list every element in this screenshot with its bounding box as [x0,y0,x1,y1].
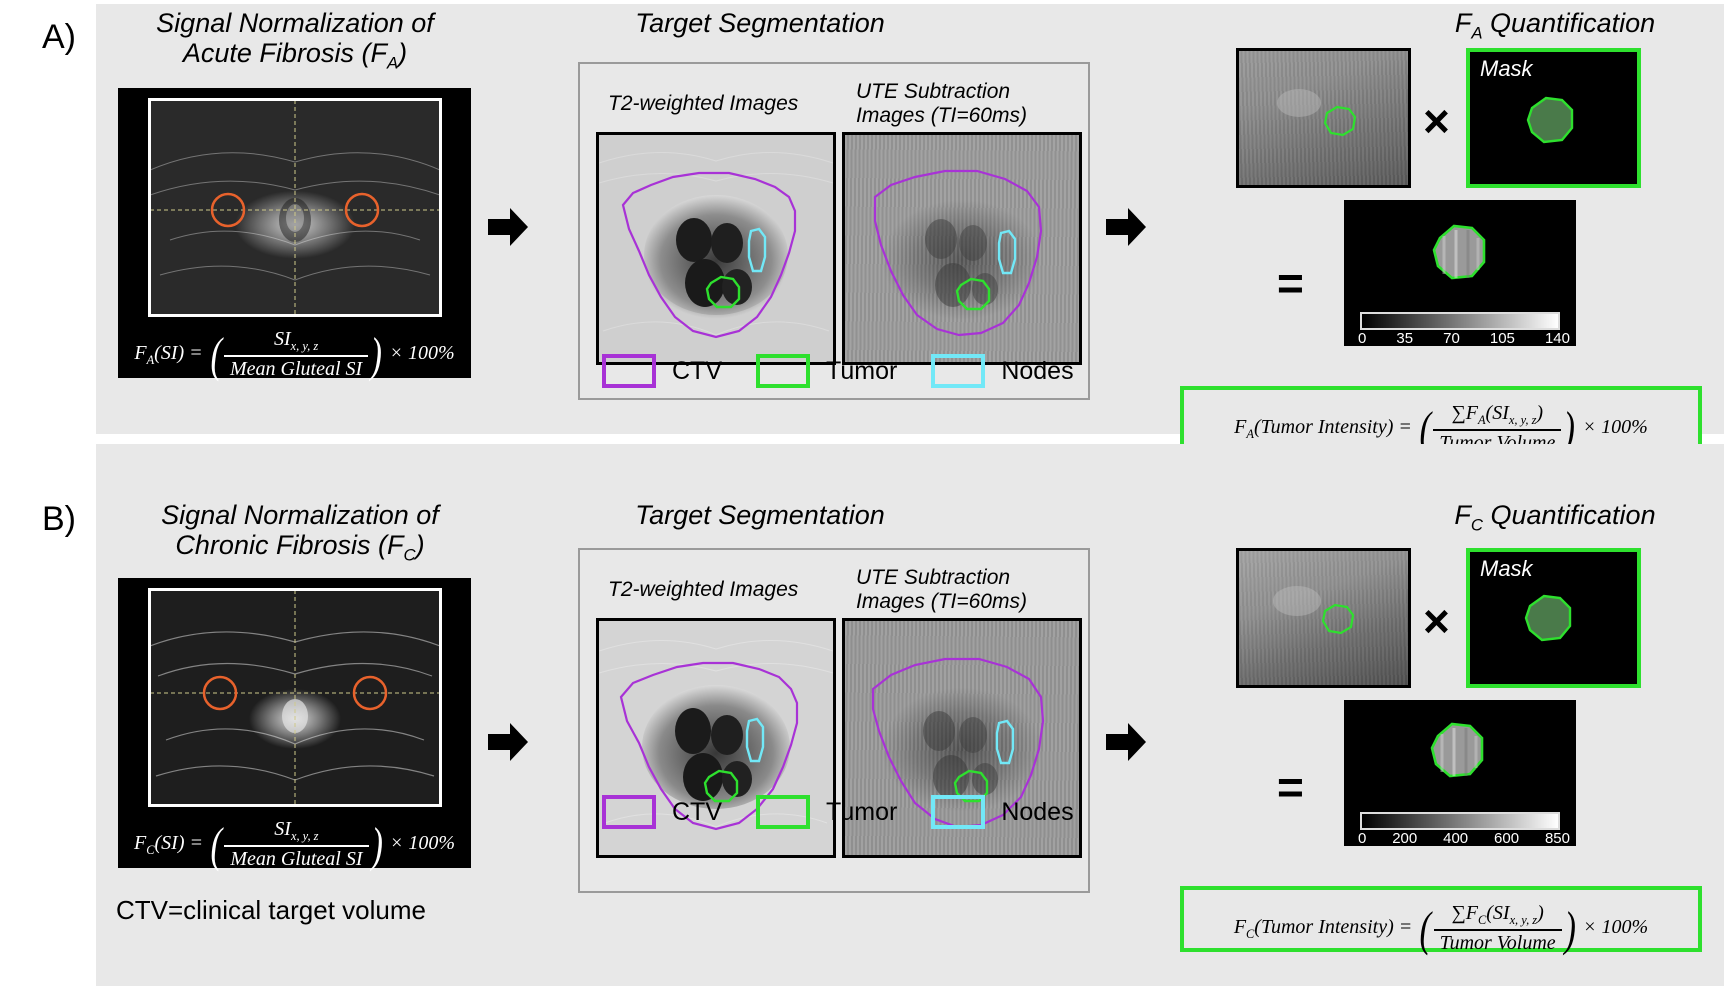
result-lhs-pre-b: F [1234,916,1246,938]
legend-label-tumor: Tumor [826,357,897,386]
num-mid-b: (SI [1486,902,1509,924]
legend-swatch-ctv-b [602,795,656,829]
panel-b-footnote: CTV=clinical target volume [116,895,426,926]
quant-title-sub-b: C [1471,515,1483,534]
title-line-2-pre: Acute Fibrosis (F [183,38,387,68]
legend-swatch-nodes [931,354,985,388]
num-sub-b: C [1478,913,1486,927]
sum-symbol-b: ∑ [1451,902,1465,924]
sum-symbol: ∑ [1451,402,1465,424]
result-paren-open-b: ( [1420,900,1431,957]
ute-label-line2-b: Images (TI=60ms) [856,590,1027,613]
quant-title-sub: A [1471,23,1482,42]
title-line-2-post: ) [398,38,407,68]
panel-a-mask-label: Mask [1480,56,1533,82]
panel-a-t2-label: T2-weighted Images [608,92,818,116]
formula-lhs-sub-b: C [146,843,154,857]
result-paren-close-b: ) [1564,900,1575,957]
panel-a-colorbar-ticks: 0 35 70 105 140 [1358,330,1570,347]
formula-tail: × 100% [389,342,454,364]
title-line-2-sub: A [387,54,398,73]
title-line-1-b: Signal Normalization of [161,500,439,530]
numerator-pre: SI [274,328,291,350]
panel-a-label: A) [42,18,76,57]
paren-open: ( [210,326,221,383]
panel-a-mask-box: Mask [1466,48,1641,188]
colorbar-tick-3: 105 [1490,330,1515,347]
colorbar-tick-0-b: 0 [1358,830,1366,847]
formula-fraction: SIx, y, zMean Gluteal SI [224,328,368,381]
panel-a-result-overlay [1344,200,1576,312]
panel-b-t2-label: T2-weighted Images [608,578,818,602]
panel-a-quantification-title: FA Quantification [1390,8,1720,43]
figure-root: A) Signal Normalization of Acute Fibrosi… [0,0,1731,990]
panel-b-normalization-title: Signal Normalization of Chronic Fibrosis… [110,500,490,565]
colorbar-tick-2: 70 [1443,330,1460,347]
legend-label-ctv: CTV [672,357,722,386]
result-tail: × 100% [1583,416,1648,438]
panel-a-colorbar [1360,312,1560,330]
panel-b-colorbar [1360,812,1560,830]
paren-open-b: ( [210,816,221,873]
panel-b-ute-label: UTE Subtraction Images (TI=60ms) [856,566,1056,614]
numerator-pre-b: SI [274,818,291,840]
panel-b-mri-white-frame [148,588,442,807]
panel-a-segmentation-title: Target Segmentation [560,8,960,38]
title-line-2-pre-b: Chronic Fibrosis (F [175,530,403,560]
panel-a-multiply-operator: × [1423,94,1450,148]
num-sub2-b: x, y, z [1510,913,1538,927]
panel-b-quant-source-overlay [1239,551,1408,685]
formula-numerator-b: SIx, y, z [224,818,368,845]
colorbar-tick-4: 140 [1545,330,1570,347]
panel-b-colorbar-ticks: 0 200 400 600 850 [1358,830,1570,847]
panel-a-quant-source-image [1236,48,1411,188]
colorbar-tick-2-b: 400 [1443,830,1468,847]
formula-lhs-pre: F [134,342,146,364]
colorbar-tick-3-b: 600 [1494,830,1519,847]
ute-label-line1: UTE Subtraction [856,80,1010,103]
result-lhs-post: (Tumor Intensity) = [1254,416,1412,438]
legend-swatch-tumor-b [756,795,810,829]
panel-a-t2-image [596,132,836,365]
legend-swatch-ctv [602,354,656,388]
panel-a-equals-operator: = [1277,256,1304,310]
paren-close-b: ) [371,816,382,873]
numerator-sub-b: x, y, z [291,829,319,843]
panel-a-arrow-2 [1104,205,1148,249]
panel-a-ute-overlay [845,135,1079,362]
legend-label-nodes: Nodes [1001,357,1073,386]
result-numerator: ∑FA(SIx, y, z) [1433,402,1561,429]
num-sub: A [1478,413,1486,427]
panel-b-normalization-image-box: FC(SI) = (SIx, y, zMean Gluteal SI) × 10… [118,578,471,868]
panel-b-quant-source-image [1236,548,1411,688]
ute-label-line1-b: UTE Subtraction [856,566,1010,589]
numerator-sub: x, y, z [291,339,319,353]
num-sub2: x, y, z [1509,413,1537,427]
num-mid: (SI [1486,402,1509,424]
quant-title-pre: F [1455,8,1472,38]
panel-a-normalization-title: Signal Normalization of Acute Fibrosis (… [110,8,480,73]
panel-a-normalization-formula: FA(SI) = (SIx, y, zMean Gluteal SI) × 10… [118,326,471,383]
result-fraction-b: ∑FC(SIx, y, z)Tumor Volume [1434,902,1562,955]
legend-swatch-nodes-b [931,795,985,829]
legend-label-ctv-b: CTV [672,798,722,827]
panel-b-arrow-2 [1104,720,1148,764]
panel-b-label: B) [42,500,76,539]
num-post-b: ) [1537,902,1544,924]
colorbar-tick-0: 0 [1358,330,1366,347]
panel-b-legend: CTV Tumor Nodes [602,795,1108,829]
panel-a-quant-tumor-contour [1325,107,1355,135]
panel-b-normalization-formula: FC(SI) = (SIx, y, zMean Gluteal SI) × 10… [118,816,471,873]
legend-label-tumor-b: Tumor [826,798,897,827]
panel-a-ute-label: UTE Subtraction Images (TI=60ms) [856,80,1056,128]
formula-lhs-post: (SI) = [154,342,202,364]
result-tail-b: × 100% [1583,916,1648,938]
formula-numerator: SIx, y, z [224,328,368,355]
legend-label-nodes-b: Nodes [1001,798,1073,827]
result-lhs-pre: F [1234,416,1246,438]
num-post: ) [1536,402,1543,424]
result-lhs-post-b: (Tumor Intensity) = [1254,916,1412,938]
paren-close: ) [371,326,382,383]
num-pre-b: F [1466,902,1478,924]
panel-b-arrow-1 [486,720,530,764]
panel-a-arrow-1 [486,205,530,249]
colorbar-tick-1: 35 [1396,330,1413,347]
panel-b-result-overlay [1344,700,1576,812]
result-numerator-b: ∑FC(SIx, y, z) [1434,902,1562,929]
title-line-1: Signal Normalization of [156,8,434,38]
panel-a-t2-overlay [599,135,833,362]
panel-a-quant-source-overlay [1239,51,1408,185]
formula-denominator: Mean Gluteal SI [224,355,368,381]
panel-b-mask-box: Mask [1466,548,1641,688]
panel-a-normalization-image-box: FA(SI) = (SIx, y, zMean Gluteal SI) × 10… [118,88,471,378]
panel-b-segmentation-title: Target Segmentation [560,500,960,530]
panel-a-ute-image [842,132,1082,365]
panel-b-equals-operator: = [1277,760,1304,814]
panel-b-quantification-title: FC Quantification [1390,500,1720,535]
panel-b-multiply-operator: × [1423,594,1450,648]
title-line-2-post-b: ) [416,530,425,560]
panel-b-mask-label: Mask [1480,556,1533,582]
num-pre: F [1466,402,1478,424]
panel-b-result-image-box: 0 200 400 600 850 [1344,700,1576,846]
legend-swatch-tumor [756,354,810,388]
quant-title-post-b: Quantification [1483,500,1656,530]
title-line-2-sub-b: C [403,546,415,565]
panel-a-mri-white-frame [148,98,442,317]
ute-label-line2: Images (TI=60ms) [856,104,1027,127]
result-denominator-b: Tumor Volume [1434,929,1562,955]
colorbar-tick-4-b: 850 [1545,830,1570,847]
quant-title-post: Quantification [1483,8,1656,38]
formula-tail-b: × 100% [390,832,455,854]
panel-a-result-image-box: 0 35 70 105 140 [1344,200,1576,346]
formula-lhs-pre-b: F [134,832,146,854]
panel-a-result-formula-box: FA(Tumor Intensity) = (∑FA(SIx, y, z)Tum… [1180,386,1702,452]
panel-b-result-formula-box: FC(Tumor Intensity) = (∑FC(SIx, y, z)Tum… [1180,886,1702,952]
result-lhs-sub: A [1246,427,1254,441]
quant-title-pre-b: F [1454,500,1471,530]
panel-a-ute-nodes-contour [999,231,1015,273]
panel-b-ute-nodes-contour [997,721,1013,763]
formula-lhs-post-b: (SI) = [155,832,203,854]
panel-a-legend: CTV Tumor Nodes [602,354,1108,388]
formula-denominator-b: Mean Gluteal SI [224,845,368,871]
panel-b-quant-tumor-contour [1323,605,1353,633]
colorbar-tick-1-b: 200 [1392,830,1417,847]
formula-fraction-b: SIx, y, zMean Gluteal SI [224,818,368,871]
panel-b-result-formula: FC(Tumor Intensity) = (∑FC(SIx, y, z)Tum… [1184,900,1698,957]
